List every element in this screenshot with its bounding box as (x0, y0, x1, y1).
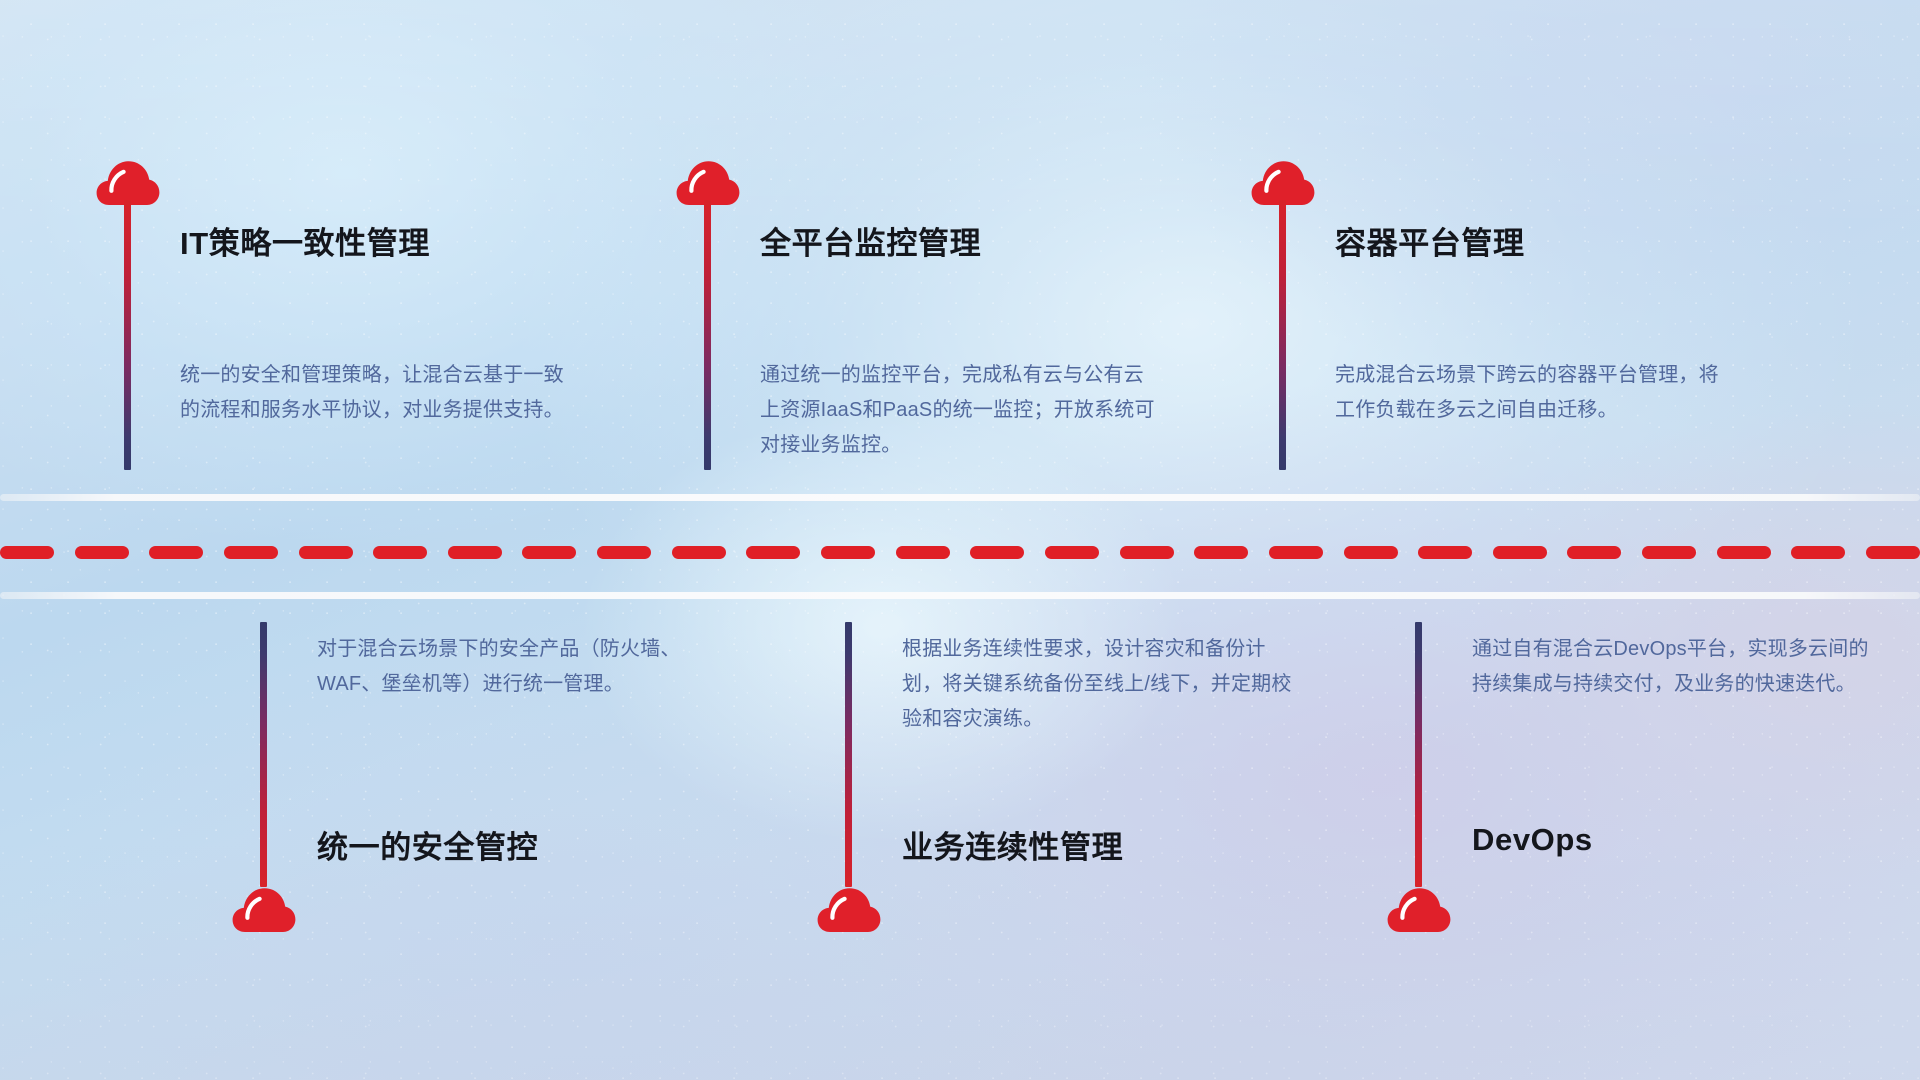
connector-stem (704, 200, 711, 470)
divider-line-top (0, 494, 1920, 501)
card-description: 通过统一的监控平台，完成私有云与公有云上资源IaaS和PaaS的统一监控；开放系… (760, 358, 1160, 463)
card-description: 通过自有混合云DevOps平台，实现多云间的持续集成与持续交付，及业务的快速迭代… (1472, 632, 1872, 702)
connector-stem (1415, 622, 1422, 887)
card-description: 统一的安全和管理策略，让混合云基于一致的流程和服务水平协议，对业务提供支持。 (180, 358, 580, 428)
divider-dash (1717, 546, 1771, 559)
divider-dash (373, 546, 427, 559)
connector-stem (1279, 200, 1286, 470)
divider-dash (821, 546, 875, 559)
divider-line-bottom (0, 592, 1920, 599)
divider-dash (224, 546, 278, 559)
card-title: IT策略一致性管理 (180, 218, 430, 263)
divider-dash (1791, 546, 1845, 559)
connector-stem (845, 622, 852, 887)
divider-dash (522, 546, 576, 559)
divider-dash (1418, 546, 1472, 559)
divider-dash (1567, 546, 1621, 559)
divider-dash (299, 546, 353, 559)
divider-dash (1269, 546, 1323, 559)
divider-dash (1866, 546, 1920, 559)
card-description: 完成混合云场景下跨云的容器平台管理，将工作负载在多云之间自由迁移。 (1335, 358, 1735, 428)
divider-dash (75, 546, 129, 559)
divider-dash (1344, 546, 1398, 559)
divider-dash (896, 546, 950, 559)
divider-dash (1194, 546, 1248, 559)
connector-stem (260, 622, 267, 887)
card-title: 统一的安全管控 (317, 822, 538, 867)
divider-dash (1120, 546, 1174, 559)
cloud-icon (817, 887, 881, 933)
divider-dashed-red (0, 546, 1920, 559)
divider-dash (672, 546, 726, 559)
divider-dash (970, 546, 1024, 559)
card-description: 对于混合云场景下的安全产品（防火墙、WAF、堡垒机等）进行统一管理。 (317, 632, 717, 702)
divider-dash (1642, 546, 1696, 559)
card-title: DevOps (1472, 822, 1593, 858)
divider-dash (448, 546, 502, 559)
divider-dash (597, 546, 651, 559)
divider-dash (149, 546, 203, 559)
connector-stem (124, 200, 131, 470)
card-title: 业务连续性管理 (902, 822, 1123, 867)
card-title: 容器平台管理 (1335, 218, 1525, 263)
card-description: 根据业务连续性要求，设计容灾和备份计划，将关键系统备份至线上/线下，并定期校验和… (902, 632, 1302, 737)
cloud-icon (1387, 887, 1451, 933)
divider-dash (746, 546, 800, 559)
hybrid-cloud-capabilities-infographic: IT策略一致性管理 统一的安全和管理策略，让混合云基于一致的流程和服务水平协议，… (0, 0, 1920, 1080)
cloud-icon (232, 887, 296, 933)
divider-dash (0, 546, 54, 559)
card-title: 全平台监控管理 (760, 218, 981, 263)
divider-dash (1045, 546, 1099, 559)
divider-dash (1493, 546, 1547, 559)
